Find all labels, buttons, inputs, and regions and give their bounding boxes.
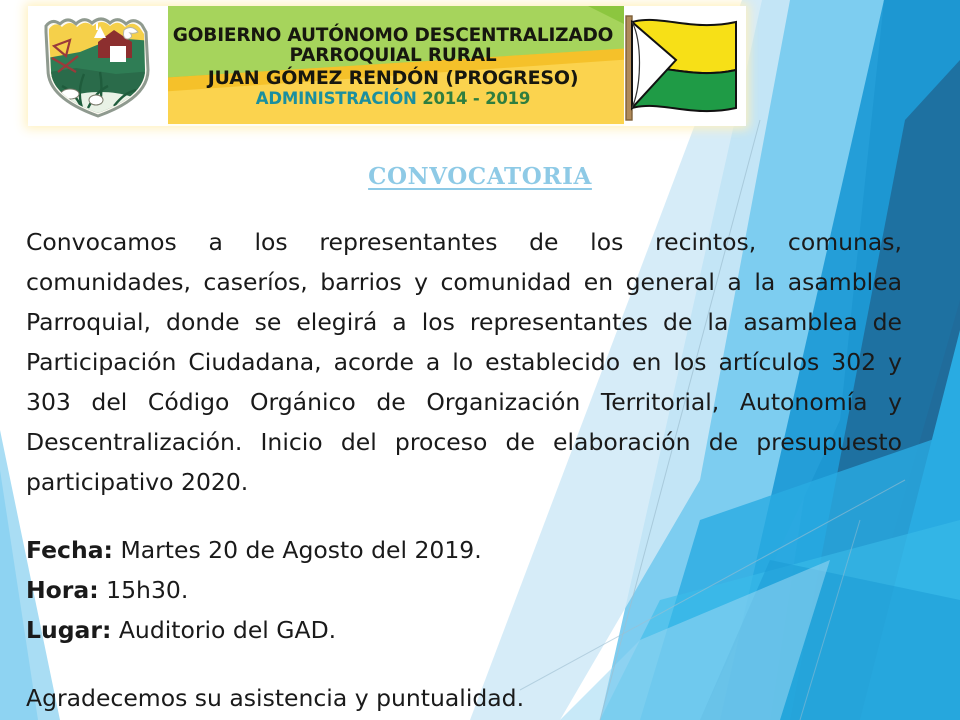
detail-label-fecha: Fecha:	[26, 536, 113, 564]
banner-line-1: GOBIERNO AUTÓNOMO DESCENTRALIZADO	[173, 26, 613, 46]
banner-line-3: JUAN GÓMEZ RENDÓN (PROGRESO)	[208, 68, 579, 89]
detail-row-lugar: Lugar: Auditorio del GAD.	[26, 610, 902, 650]
announcement-body: Convocamos a los representantes de los r…	[26, 222, 902, 718]
paragraph-spacer	[26, 502, 902, 530]
slide-canvas: GOBIERNO AUTÓNOMO DESCENTRALIZADO PARROQ…	[0, 0, 960, 720]
banner-admin-years: 2014 - 2019	[422, 89, 530, 108]
institution-banner: GOBIERNO AUTÓNOMO DESCENTRALIZADO PARROQ…	[28, 6, 746, 126]
detail-value-fecha: Martes 20 de Agosto del 2019.	[120, 536, 481, 564]
detail-value-hora: 15h30.	[106, 576, 188, 604]
banner-title-block: GOBIERNO AUTÓNOMO DESCENTRALIZADO PARROQ…	[170, 6, 616, 126]
detail-label-hora: Hora:	[26, 576, 99, 604]
detail-row-hora: Hora: 15h30.	[26, 570, 902, 610]
coat-of-arms-shield-icon	[36, 12, 166, 120]
detail-value-lugar: Auditorio del GAD.	[119, 616, 336, 644]
parish-flag-icon	[618, 10, 742, 122]
page-title: CONVOCATORIA	[0, 163, 960, 190]
banner-line-2: PARROQUIAL RURAL	[290, 46, 497, 66]
detail-label-lugar: Lugar:	[26, 616, 111, 644]
detail-row-fecha: Fecha: Martes 20 de Agosto del 2019.	[26, 530, 902, 570]
closing-line: Agradecemos su asistencia y puntualidad.	[26, 678, 902, 718]
closing-spacer	[26, 650, 902, 678]
banner-line-4: ADMINISTRACIÓN 2014 - 2019	[256, 90, 530, 108]
announcement-paragraph: Convocamos a los representantes de los r…	[26, 222, 902, 502]
banner-admin-label: ADMINISTRACIÓN	[256, 89, 422, 108]
